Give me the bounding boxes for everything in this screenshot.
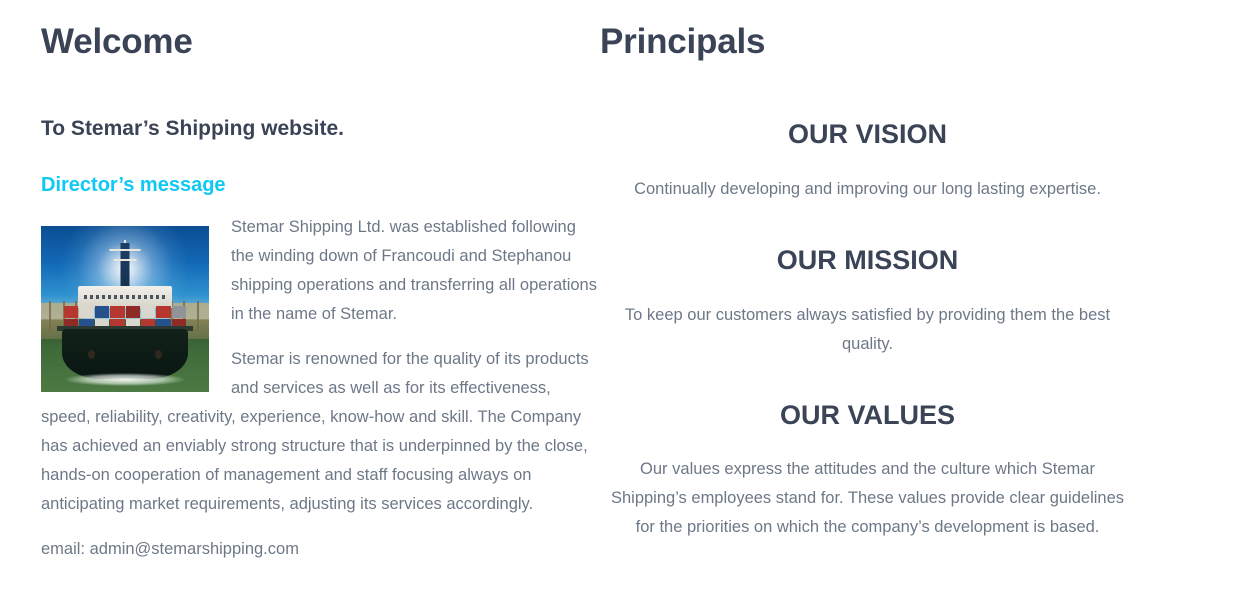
welcome-column: Welcome To Stemar’s Shipping website. Di… [0,0,600,564]
director-message-body: Stemar Shipping Ltd. was established fol… [41,213,600,564]
welcome-subtitle: To Stemar’s Shipping website. [41,115,600,142]
ship-image [41,226,209,392]
bow-wave-decor [65,373,185,386]
ship-superstructure-decor [78,286,172,308]
crane-icon [197,301,199,331]
principal-heading-mission: OUR MISSION [600,244,1135,278]
principal-text-mission: To keep our customers always satisfied b… [603,301,1133,359]
principal-text-values: Our values express the attitudes and the… [603,455,1133,542]
two-column-layout: Welcome To Stemar’s Shipping website. Di… [0,0,1245,564]
ship-mast-decor [121,243,130,287]
page-title-welcome: Welcome [41,21,600,63]
principal-heading-vision: OUR VISION [600,118,1135,152]
page-title-principals: Principals [600,21,1135,63]
ship-hull-decor [62,329,188,379]
principal-text-vision: Continually developing and improving our… [603,175,1133,204]
principal-heading-values: OUR VALUES [600,399,1135,433]
contact-email-line: email: admin@stemarshipping.com [41,535,600,564]
directors-message-link[interactable]: Director’s message [41,173,226,197]
ship-photo-backdrop [41,226,209,392]
crane-icon [49,301,51,331]
principals-column: Principals OUR VISION Continually develo… [600,0,1245,542]
page-root: Welcome To Stemar’s Shipping website. Di… [0,0,1245,605]
